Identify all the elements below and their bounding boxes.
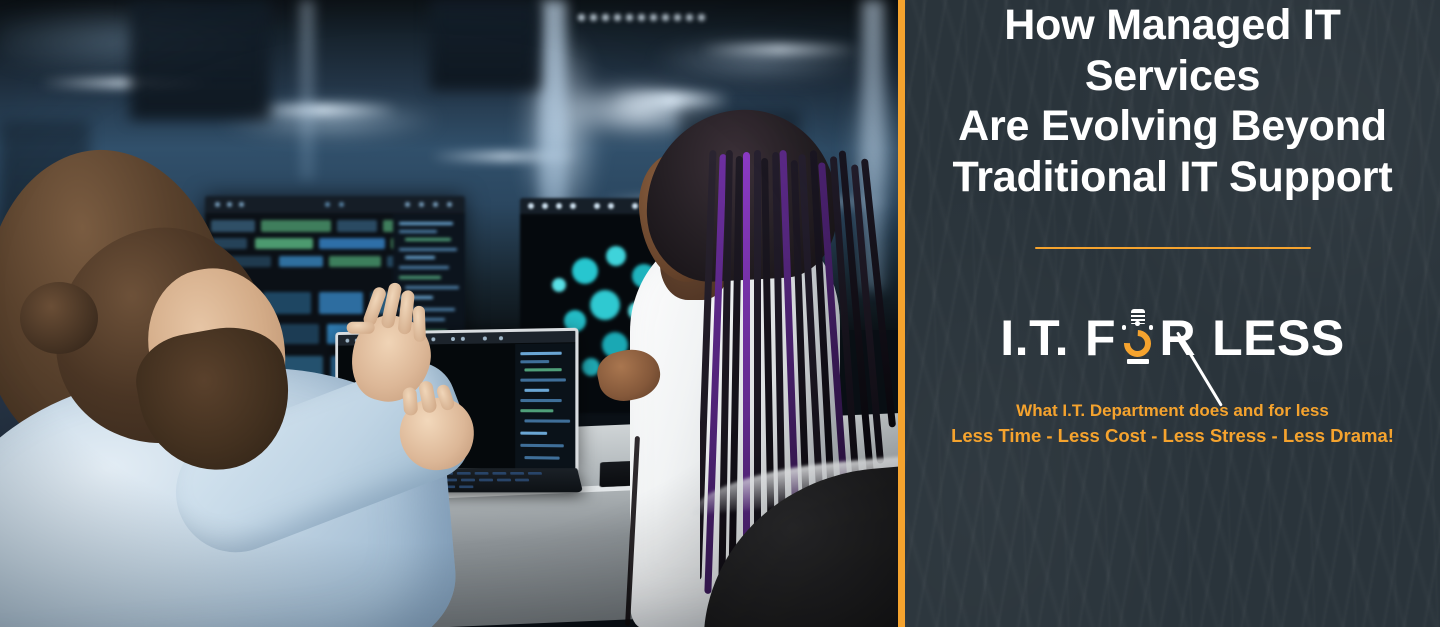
page-title: How Managed IT Services Are Evolving Bey… xyxy=(905,0,1440,203)
title-line-2: Are Evolving Beyond xyxy=(921,101,1424,152)
status-led-row xyxy=(578,8,710,26)
tagline-line-2: Less Time - Less Cost - Less Stress - Le… xyxy=(905,423,1440,449)
laptop-side-panel xyxy=(515,343,575,470)
lightbulb-icon xyxy=(1117,307,1159,363)
orange-divider-strip xyxy=(898,0,905,627)
light-beam xyxy=(612,92,732,108)
person-1-hair-bun xyxy=(20,282,98,354)
accent-divider-rule xyxy=(1035,247,1311,249)
brand-tagline: What I.T. Department does and for less L… xyxy=(905,399,1440,449)
lightbulb-ray-dot xyxy=(1149,325,1154,330)
light-beam xyxy=(248,104,398,116)
title-line-1: How Managed IT Services xyxy=(921,0,1424,101)
tagline-line-1: What I.T. Department does and for less xyxy=(905,399,1440,423)
logo-text-f: F xyxy=(1085,313,1116,363)
structural-pillar xyxy=(300,0,314,180)
lightbulb-ray-dot xyxy=(1135,321,1140,326)
brand-logo: I.T. F R LESS xyxy=(905,305,1440,363)
light-beam xyxy=(700,44,860,55)
lightbulb-ray-dot xyxy=(1122,325,1127,330)
monitor-toolbar xyxy=(205,196,465,213)
equipment-rack xyxy=(430,0,540,90)
logo-text-less: LESS xyxy=(1212,313,1345,363)
content-panel: How Managed IT Services Are Evolving Bey… xyxy=(905,0,1440,627)
hero-photo xyxy=(0,0,898,627)
lightbulb-glass-ring xyxy=(1118,324,1156,362)
lightbulb-base-dash xyxy=(1127,359,1149,364)
promo-banner: How Managed IT Services Are Evolving Bey… xyxy=(0,0,1440,627)
logo-text-r: R xyxy=(1160,313,1197,363)
equipment-rack xyxy=(130,0,270,120)
panel-content: How Managed IT Services Are Evolving Bey… xyxy=(905,0,1440,449)
logo-text-it: I.T. xyxy=(1000,313,1069,363)
title-line-3: Traditional IT Support xyxy=(921,152,1424,203)
